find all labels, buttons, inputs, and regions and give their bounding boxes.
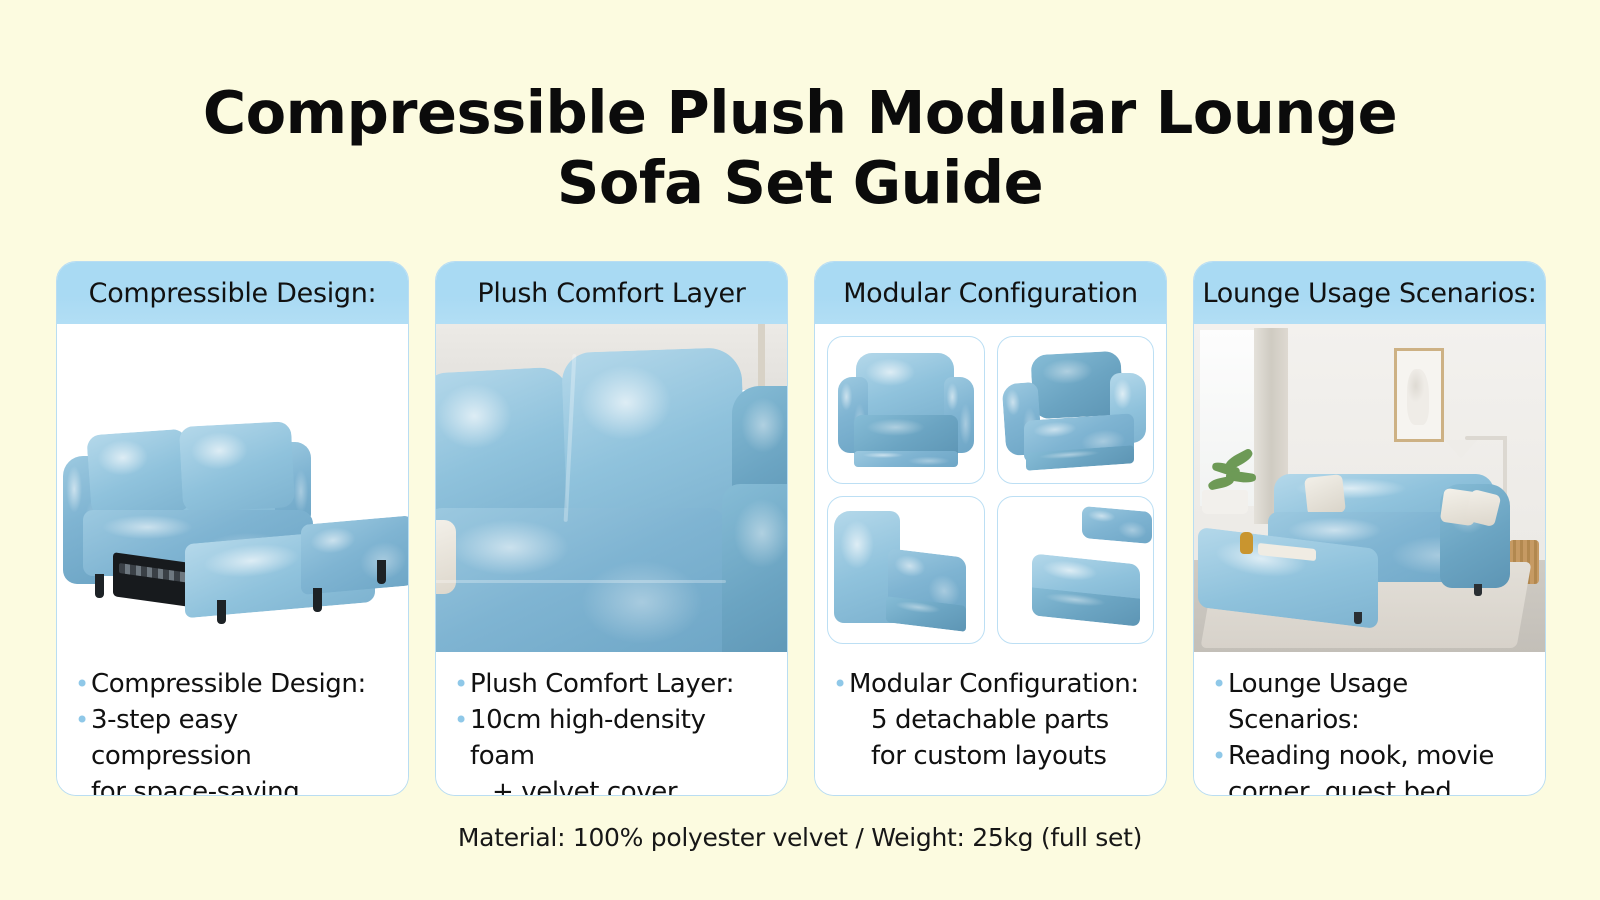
- cushion-seam: [436, 580, 726, 583]
- back-cushion-right: [179, 421, 295, 513]
- card-header: Lounge Usage Scenarios:: [1194, 262, 1545, 324]
- list-item-label: Lounge Usage Scenarios:: [1228, 666, 1529, 738]
- sofa-leg: [377, 560, 386, 584]
- list-item: • 3-step easy compression: [75, 702, 392, 774]
- sofa-leg: [313, 588, 322, 612]
- list-item-label: Modular Configuration:: [849, 666, 1150, 702]
- list-item-label: 3-step easy compression: [91, 702, 392, 774]
- footer-spec-note: Material: 100% polyester velvet / Weight…: [0, 823, 1600, 852]
- list-item: • 10cm high-density foam: [454, 702, 771, 774]
- list-item: • Lounge Usage Scenarios:: [1212, 666, 1529, 738]
- module-panel-armchair-front[interactable]: [827, 336, 985, 484]
- bullet-dot-icon: •: [75, 702, 91, 738]
- card-header: Compressible Design:: [57, 262, 408, 324]
- list-item-label: + velvet cover: [470, 774, 771, 796]
- back-cushion-center: [561, 347, 747, 525]
- card-body: • Modular Configuration: • 5 detachable …: [815, 652, 1166, 795]
- page-title-line-2: Sofa Set Guide: [0, 148, 1600, 218]
- sofa-leg: [1474, 584, 1482, 596]
- back-cushion-left: [86, 429, 191, 518]
- framed-art: [1394, 348, 1444, 442]
- bullet-dot-icon: •: [454, 702, 470, 738]
- list-item-label: 5 detachable parts: [849, 702, 1150, 738]
- list-item: • Reading nook, movie: [1212, 738, 1529, 774]
- list-item-continuation: • 5 detachable parts: [833, 702, 1150, 738]
- card-compressible-design[interactable]: Compressible Design: • Compress: [56, 261, 409, 796]
- list-item: • Plush Comfort Layer:: [454, 666, 771, 702]
- list-item-label: for space-saving: [91, 774, 392, 796]
- list-item: • Compressible Design:: [75, 666, 392, 702]
- list-item-label: for custom layouts: [849, 738, 1150, 774]
- bullet-dot-icon: •: [1212, 666, 1228, 702]
- list-item-label: Reading nook, movie: [1228, 738, 1529, 774]
- list-item-continuation: • + velvet cover: [454, 774, 771, 796]
- cushion-closeup-illustration: [436, 324, 787, 652]
- card-plush-comfort-layer[interactable]: Plush Comfort Layer • Plush Comfort Laye…: [435, 261, 788, 796]
- back-cushion-left: [436, 366, 576, 524]
- floor-lamp-shade-icon: [1445, 440, 1477, 458]
- sofa-leg: [95, 574, 104, 598]
- list-item-label: Compressible Design:: [91, 666, 392, 702]
- detached-cushion: [1082, 506, 1152, 544]
- sofa-leg: [217, 600, 226, 624]
- bed-extension-panel-2: [301, 515, 408, 595]
- module-panel-armchair-angled[interactable]: [997, 336, 1155, 484]
- armchair-backrest: [856, 353, 954, 417]
- module-panel-armless-chair[interactable]: [827, 496, 985, 644]
- card-image-sofa-bed: [57, 324, 408, 652]
- card-image-living-room: [1194, 324, 1545, 652]
- module-grid: [827, 336, 1154, 644]
- list-item-label: 10cm high-density foam: [470, 702, 771, 774]
- card-body: • Lounge Usage Scenarios: • Reading nook…: [1194, 652, 1545, 796]
- plant-pot: [1202, 490, 1248, 514]
- card-header: Modular Configuration: [815, 262, 1166, 324]
- list-item: • Modular Configuration:: [833, 666, 1150, 702]
- background-post: [758, 324, 765, 390]
- list-item-continuation: • corner, guest bed: [1212, 774, 1529, 796]
- card-body: • Plush Comfort Layer: • 10cm high-densi…: [436, 652, 787, 796]
- sofa-bed-illustration: [57, 324, 408, 652]
- armchair-base: [854, 451, 958, 467]
- ottoman-leg: [1354, 612, 1362, 624]
- list-item-label: Plush Comfort Layer:: [470, 666, 771, 702]
- decor-vase: [1240, 532, 1253, 554]
- bullet-dot-icon: •: [833, 666, 849, 702]
- bullet-dot-icon: •: [454, 666, 470, 702]
- card-modular-configuration[interactable]: Modular Configuration: [814, 261, 1167, 796]
- card-header: Plush Comfort Layer: [436, 262, 787, 324]
- card-image-module-grid: [815, 324, 1166, 652]
- white-accent-pillow: [1304, 474, 1346, 516]
- living-room-illustration: [1194, 324, 1545, 652]
- card-row: Compressible Design: • Compress: [56, 261, 1546, 796]
- bullet-dot-icon: •: [75, 666, 91, 702]
- seat-cushion-right: [722, 484, 787, 652]
- card-body: • Compressible Design: • 3-step easy com…: [57, 652, 408, 796]
- list-item-continuation: • for space-saving: [75, 774, 392, 796]
- card-lounge-usage-scenarios[interactable]: Lounge Usage Scenarios:: [1193, 261, 1546, 796]
- card-image-cushion-closeup: [436, 324, 787, 652]
- module-panel-cushion-ottoman[interactable]: [997, 496, 1155, 644]
- bullet-dot-icon: •: [1212, 738, 1228, 774]
- page-title-line-1: Compressible Plush Modular Lounge: [203, 78, 1397, 147]
- page-title: Compressible Plush Modular Lounge Sofa S…: [0, 78, 1600, 218]
- list-item-continuation: • for custom layouts: [833, 738, 1150, 774]
- list-item-label: corner, guest bed: [1228, 774, 1529, 796]
